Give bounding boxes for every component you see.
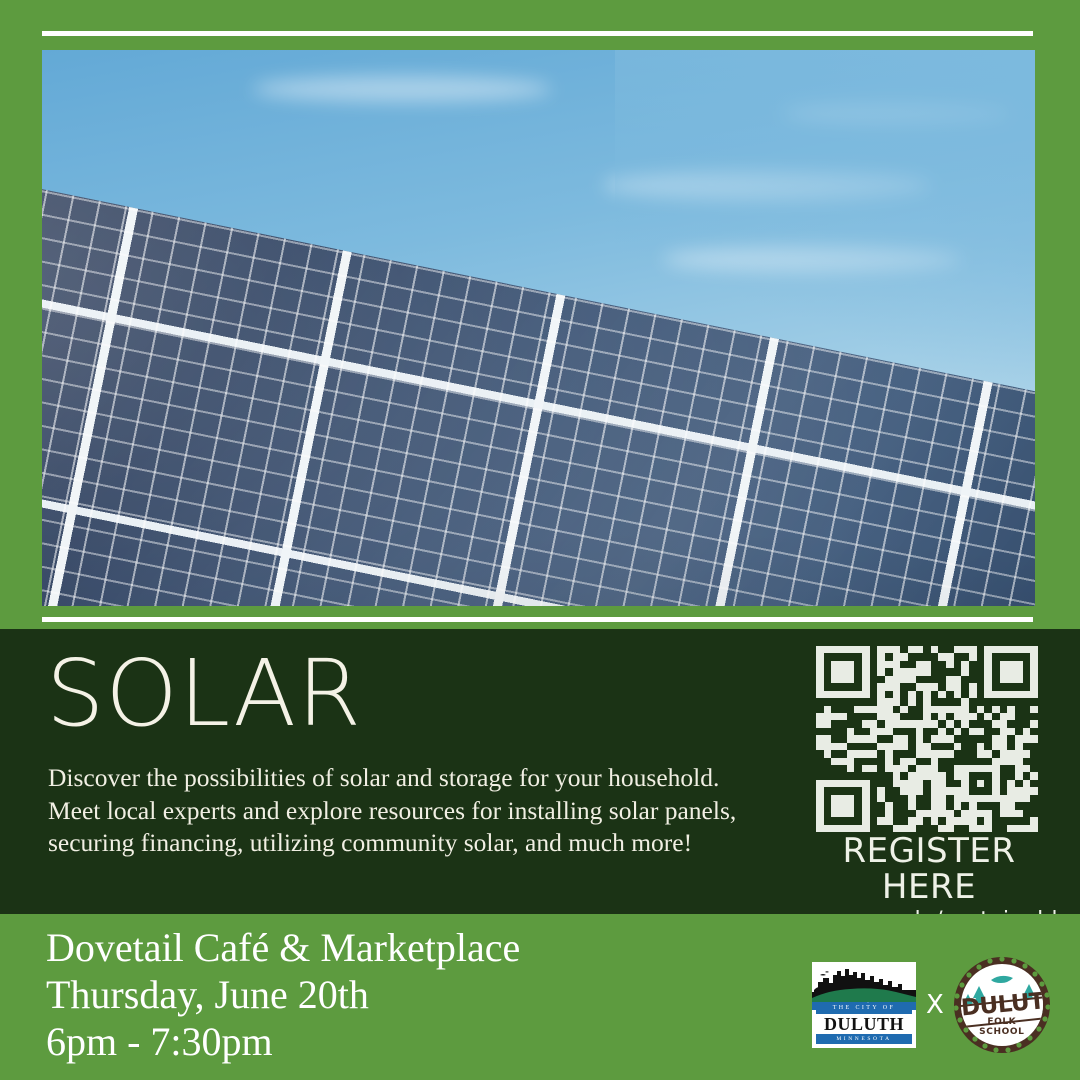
qr-module — [862, 661, 870, 668]
qr-module — [977, 758, 985, 765]
city-logo-bottom-bar: MINNESOTA — [816, 1034, 912, 1044]
qr-module — [1015, 787, 1023, 794]
qr-module — [984, 691, 992, 698]
qr-module — [1015, 713, 1023, 720]
qr-module — [946, 795, 954, 802]
qr-module — [854, 676, 862, 683]
qr-module — [969, 765, 977, 772]
qr-module — [961, 743, 969, 750]
qr-module — [946, 735, 954, 742]
qr-module — [1007, 750, 1015, 757]
qr-module — [916, 698, 924, 705]
qr-module — [1007, 698, 1015, 705]
qr-module — [946, 810, 954, 817]
qr-module — [961, 795, 969, 802]
qr-module — [885, 728, 893, 735]
qr-module — [984, 743, 992, 750]
qr-module — [931, 787, 939, 794]
qr-module — [862, 758, 870, 765]
qr-module — [908, 817, 916, 824]
qr-module — [961, 735, 969, 742]
qr-module — [854, 758, 862, 765]
qr-module — [831, 720, 839, 727]
qr-module — [908, 758, 916, 765]
qr-module — [839, 668, 847, 675]
qr-module — [831, 683, 839, 690]
qr-module — [824, 825, 832, 832]
qr-module — [984, 728, 992, 735]
qr-module — [870, 780, 878, 787]
qr-module — [816, 758, 824, 765]
qr-module — [893, 802, 901, 809]
qr-module — [954, 802, 962, 809]
qr-module — [854, 683, 862, 690]
qr-module — [938, 661, 946, 668]
qr-module — [1007, 758, 1015, 765]
qr-module — [916, 802, 924, 809]
qr-module — [862, 713, 870, 720]
qr-module — [816, 743, 824, 750]
qr-module — [923, 735, 931, 742]
qr-module — [977, 795, 985, 802]
qr-module — [893, 698, 901, 705]
qr-module — [938, 787, 946, 794]
qr-module — [954, 765, 962, 772]
qr-module — [954, 758, 962, 765]
qr-module — [1015, 810, 1023, 817]
qr-module — [908, 720, 916, 727]
qr-module — [916, 817, 924, 824]
qr-module — [977, 653, 985, 660]
qr-module — [1030, 698, 1038, 705]
qr-module — [885, 720, 893, 727]
qr-module — [847, 735, 855, 742]
qr-module — [938, 817, 946, 824]
qr-module — [831, 653, 839, 660]
qr-module — [969, 653, 977, 660]
qr-module — [900, 691, 908, 698]
qr-module — [969, 646, 977, 653]
qr-module — [908, 691, 916, 698]
qr-module — [984, 772, 992, 779]
qr-module — [938, 765, 946, 772]
qr-module — [824, 787, 832, 794]
qr-module — [908, 810, 916, 817]
qr-module — [916, 676, 924, 683]
qr-module — [877, 735, 885, 742]
qr-module — [1030, 802, 1038, 809]
qr-module — [1007, 810, 1015, 817]
qr-module — [916, 735, 924, 742]
qr-module — [854, 743, 862, 750]
qr-module — [847, 676, 855, 683]
qr-module — [916, 780, 924, 787]
qr-module — [893, 713, 901, 720]
qr-module — [916, 743, 924, 750]
qr-module — [877, 676, 885, 683]
qr-module — [839, 735, 847, 742]
qr-module — [831, 795, 839, 802]
qr-module — [961, 810, 969, 817]
qr-module — [1000, 758, 1008, 765]
qr-module — [977, 691, 985, 698]
qr-module — [916, 772, 924, 779]
qr-module — [893, 646, 901, 653]
qr-module — [916, 668, 924, 675]
qr-module — [954, 728, 962, 735]
qr-module — [877, 668, 885, 675]
qr-module — [931, 758, 939, 765]
qr-module — [839, 661, 847, 668]
qr-module — [1000, 728, 1008, 735]
qr-module — [870, 706, 878, 713]
qr-module — [977, 668, 985, 675]
qr-module — [961, 661, 969, 668]
qr-module — [854, 668, 862, 675]
qr-module — [992, 668, 1000, 675]
qr-module — [824, 802, 832, 809]
qr-module — [831, 758, 839, 765]
qr-module — [1007, 653, 1015, 660]
qr-module — [954, 713, 962, 720]
qr-module — [1023, 668, 1031, 675]
qr-module — [847, 728, 855, 735]
qr-module — [923, 661, 931, 668]
qr-module — [862, 683, 870, 690]
qr-module — [961, 780, 969, 787]
qr-module — [831, 810, 839, 817]
qr-module — [1030, 795, 1038, 802]
qr-module — [847, 765, 855, 772]
qr-module — [938, 683, 946, 690]
qr-module — [916, 750, 924, 757]
qr-module — [1000, 661, 1008, 668]
qr-module — [1007, 691, 1015, 698]
qr-module — [984, 810, 992, 817]
qr-module — [900, 817, 908, 824]
qr-module — [977, 743, 985, 750]
qr-module — [1030, 706, 1038, 713]
qr-module — [931, 772, 939, 779]
qr-module — [816, 728, 824, 735]
qr-module — [992, 676, 1000, 683]
qr-module — [908, 713, 916, 720]
qr-module — [816, 735, 824, 742]
qr-module — [847, 772, 855, 779]
qr-module — [1023, 735, 1031, 742]
qr-module — [816, 713, 824, 720]
qr-module — [824, 817, 832, 824]
qr-module — [1000, 668, 1008, 675]
qr-module — [1030, 787, 1038, 794]
qr-module — [854, 691, 862, 698]
qr-module — [1023, 683, 1031, 690]
qr-module — [977, 765, 985, 772]
qr-module — [1030, 713, 1038, 720]
qr-module — [870, 691, 878, 698]
qr-module — [839, 772, 847, 779]
qr-module — [923, 691, 931, 698]
qr-module — [908, 772, 916, 779]
qr-module — [954, 653, 962, 660]
qr-module — [1015, 795, 1023, 802]
qr-module — [923, 668, 931, 675]
qr-module — [893, 810, 901, 817]
qr-module — [839, 743, 847, 750]
qr-module — [931, 676, 939, 683]
qr-module — [1000, 646, 1008, 653]
qr-module — [954, 706, 962, 713]
qr-module — [931, 795, 939, 802]
description-text: Discover the possibilities of solar and … — [48, 762, 760, 860]
registration-block[interactable]: REGISTER HERE z.umn.edu/sustainabledulut… — [816, 646, 1042, 933]
qr-module — [893, 668, 901, 675]
qr-module — [923, 720, 931, 727]
qr-module — [1000, 653, 1008, 660]
qr-module — [908, 646, 916, 653]
qr-module — [977, 728, 985, 735]
qr-module — [885, 750, 893, 757]
qr-module — [854, 706, 862, 713]
qr-module — [1023, 780, 1031, 787]
qr-module — [854, 765, 862, 772]
qr-module — [1023, 795, 1031, 802]
qr-module — [885, 698, 893, 705]
qr-module — [1007, 661, 1015, 668]
qr-module — [961, 683, 969, 690]
qr-module — [900, 772, 908, 779]
qr-module — [877, 683, 885, 690]
qr-module — [831, 691, 839, 698]
qr-module — [1000, 683, 1008, 690]
qr-module — [839, 787, 847, 794]
qr-module — [1007, 676, 1015, 683]
qr-module — [931, 735, 939, 742]
qr-module — [984, 668, 992, 675]
qr-module — [870, 668, 878, 675]
qr-module — [984, 787, 992, 794]
qr-module — [885, 661, 893, 668]
qr-module — [977, 698, 985, 705]
qr-module — [839, 683, 847, 690]
qr-module — [1030, 817, 1038, 824]
qr-module — [893, 787, 901, 794]
qr-module — [816, 720, 824, 727]
qr-module — [954, 661, 962, 668]
qr-module — [1007, 668, 1015, 675]
qr-module — [908, 802, 916, 809]
qr-module — [893, 758, 901, 765]
qr-module — [1007, 787, 1015, 794]
qr-module — [946, 691, 954, 698]
qr-module — [946, 706, 954, 713]
qr-module — [969, 683, 977, 690]
qr-module — [908, 683, 916, 690]
qr-module — [992, 683, 1000, 690]
qr-module — [992, 795, 1000, 802]
qr-module — [847, 661, 855, 668]
qr-module — [992, 691, 1000, 698]
qr-module — [847, 758, 855, 765]
qr-module — [938, 728, 946, 735]
qr-module — [877, 661, 885, 668]
qr-module — [916, 646, 924, 653]
qr-module — [992, 743, 1000, 750]
qr-module — [1030, 683, 1038, 690]
qr-module — [839, 706, 847, 713]
qr-module — [870, 802, 878, 809]
qr-module — [984, 720, 992, 727]
qr-module — [885, 676, 893, 683]
qr-module — [900, 653, 908, 660]
qr-module — [854, 735, 862, 742]
qr-module — [1000, 743, 1008, 750]
qr-module — [1023, 706, 1031, 713]
qr-module — [908, 676, 916, 683]
qr-module — [816, 772, 824, 779]
qr-module — [831, 735, 839, 742]
qr-module — [816, 780, 824, 787]
qr-module — [992, 728, 1000, 735]
qr-module — [893, 750, 901, 757]
qr-module — [1030, 676, 1038, 683]
qr-module — [1023, 676, 1031, 683]
qr-module — [870, 676, 878, 683]
qr-module — [847, 668, 855, 675]
qr-module — [862, 765, 870, 772]
qr-module — [893, 780, 901, 787]
qr-module — [1023, 661, 1031, 668]
qr-module — [900, 743, 908, 750]
qr-module — [954, 780, 962, 787]
qr-module — [854, 646, 862, 653]
qr-module — [885, 817, 893, 824]
qr-module — [885, 772, 893, 779]
qr-module — [877, 802, 885, 809]
qr-module — [938, 810, 946, 817]
folk-logo-subtitle: FOLK SCHOOL — [961, 1018, 1043, 1037]
qr-module — [893, 728, 901, 735]
qr-module — [977, 787, 985, 794]
qr-module — [1015, 802, 1023, 809]
duluth-folk-school-logo: DULUTH FOLK SCHOOL — [954, 957, 1050, 1053]
qr-module — [1007, 765, 1015, 772]
qr-module — [1015, 780, 1023, 787]
qr-module — [1015, 698, 1023, 705]
event-venue: Dovetail Café & Marketplace — [46, 924, 520, 971]
qr-module — [877, 720, 885, 727]
qr-module — [1030, 825, 1038, 832]
qr-module — [900, 713, 908, 720]
top-divider-rule — [42, 31, 1033, 36]
qr-module — [824, 646, 832, 653]
qr-module — [816, 825, 824, 832]
qr-module — [900, 802, 908, 809]
qr-module — [1015, 758, 1023, 765]
qr-module — [969, 698, 977, 705]
qr-module — [938, 743, 946, 750]
qr-module — [1023, 787, 1031, 794]
qr-module — [816, 661, 824, 668]
qr-module — [893, 706, 901, 713]
qr-module — [847, 683, 855, 690]
qr-module — [969, 676, 977, 683]
qr-module — [885, 691, 893, 698]
qr-module — [885, 646, 893, 653]
qr-module — [961, 728, 969, 735]
qr-module — [908, 765, 916, 772]
qr-module — [839, 780, 847, 787]
qr-module — [969, 780, 977, 787]
qr-module — [1030, 661, 1038, 668]
qr-module — [1007, 743, 1015, 750]
qr-module — [862, 802, 870, 809]
qr-module — [938, 668, 946, 675]
qr-module — [908, 780, 916, 787]
qr-module — [839, 795, 847, 802]
qr-module — [992, 817, 1000, 824]
qr-module — [1000, 795, 1008, 802]
qr-module — [862, 646, 870, 653]
qr-module — [984, 661, 992, 668]
qr-module — [1015, 683, 1023, 690]
qr-module — [839, 691, 847, 698]
qr-module — [885, 795, 893, 802]
qr-module — [854, 661, 862, 668]
qr-module — [885, 683, 893, 690]
qr-module — [992, 698, 1000, 705]
qr-module — [908, 661, 916, 668]
qr-module — [938, 750, 946, 757]
event-details: Dovetail Café & Marketplace Thursday, Ju… — [46, 924, 520, 1066]
qr-module — [824, 698, 832, 705]
qr-module — [946, 780, 954, 787]
qr-module — [984, 817, 992, 824]
qr-module — [938, 698, 946, 705]
solar-panel-photo — [42, 50, 1035, 606]
qr-module — [931, 720, 939, 727]
qr-module — [954, 772, 962, 779]
qr-module — [877, 698, 885, 705]
qr-module — [946, 646, 954, 653]
qr-module — [900, 698, 908, 705]
qr-module — [1030, 720, 1038, 727]
qr-module — [946, 676, 954, 683]
qr-module — [854, 772, 862, 779]
qr-module — [862, 817, 870, 824]
qr-module — [900, 735, 908, 742]
qr-module — [847, 750, 855, 757]
qr-module — [816, 810, 824, 817]
qr-module — [862, 735, 870, 742]
qr-module — [862, 706, 870, 713]
qr-module — [893, 817, 901, 824]
qr-code-icon[interactable] — [816, 646, 1038, 832]
qr-module — [984, 750, 992, 757]
qr-module — [831, 765, 839, 772]
qr-module — [954, 698, 962, 705]
qr-module — [877, 810, 885, 817]
qr-module — [816, 646, 824, 653]
qr-module — [900, 810, 908, 817]
qr-module — [831, 646, 839, 653]
qr-module — [1007, 817, 1015, 824]
qr-module — [824, 758, 832, 765]
qr-module — [954, 646, 962, 653]
qr-module — [870, 743, 878, 750]
qr-module — [916, 720, 924, 727]
qr-module — [1000, 698, 1008, 705]
